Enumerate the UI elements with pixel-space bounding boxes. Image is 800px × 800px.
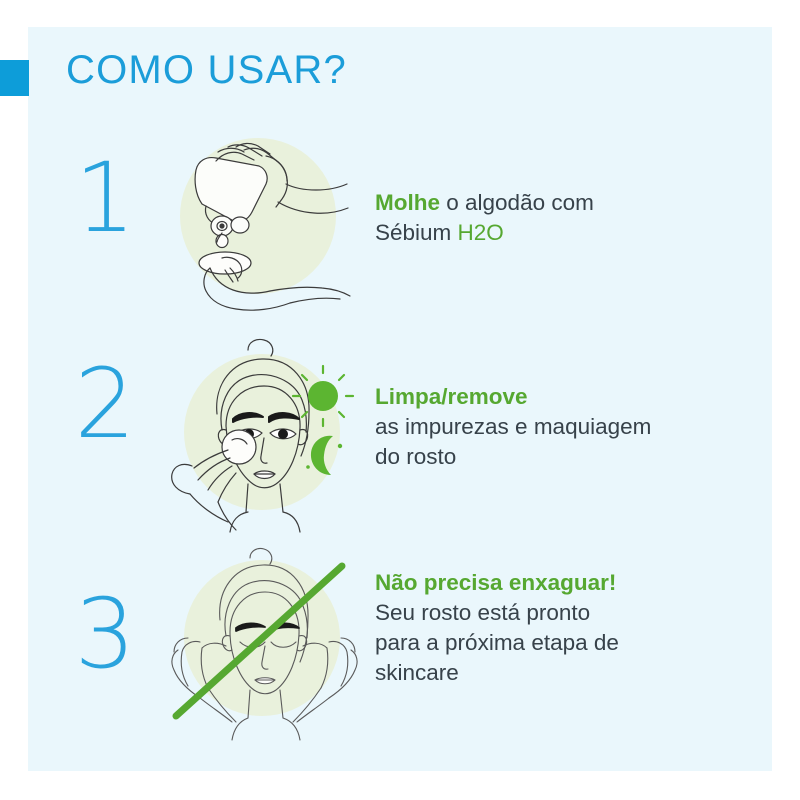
page-title: COMO USAR? bbox=[66, 48, 347, 93]
step-3-illustration bbox=[170, 546, 355, 736]
step-1-line1-rest: o algodão com bbox=[440, 190, 594, 215]
step-1-number: 1 bbox=[60, 150, 150, 246]
step-3-line4: skincare bbox=[375, 658, 775, 688]
step-3-line2: Seu rosto está pronto bbox=[375, 598, 775, 628]
blue-square-accent-icon bbox=[0, 60, 29, 96]
step-1-illustration bbox=[170, 128, 355, 318]
step-3-highlight: Não precisa enxaguar! bbox=[375, 568, 775, 598]
step-2-text: Limpa/remove as impurezas e maquiagem do… bbox=[375, 382, 775, 472]
step-1-line2-plain: Sébium bbox=[375, 220, 458, 245]
step-3-text: Não precisa enxaguar! Seu rosto está pro… bbox=[375, 568, 775, 688]
step-1: 1 bbox=[0, 128, 800, 328]
step-2-line2: as impurezas e maquiagem bbox=[375, 412, 775, 442]
step-2: 2 bbox=[0, 330, 800, 540]
step-2-illustration bbox=[170, 334, 355, 524]
step-2-number: 2 bbox=[60, 356, 150, 452]
step-3-line3: para a próxima etapa de bbox=[375, 628, 775, 658]
step-3-number: 3 bbox=[60, 586, 150, 682]
infographic-page: COMO USAR? 1 bbox=[0, 0, 800, 800]
step-1-line2-green: H2O bbox=[458, 220, 504, 245]
step-1-text: Molhe o algodão com Sébium H2O bbox=[375, 188, 775, 248]
step-2-highlight: Limpa/remove bbox=[375, 382, 775, 412]
step-3: 3 bbox=[0, 540, 800, 740]
step-2-line3: do rosto bbox=[375, 442, 775, 472]
step-1-highlight: Molhe bbox=[375, 190, 440, 215]
